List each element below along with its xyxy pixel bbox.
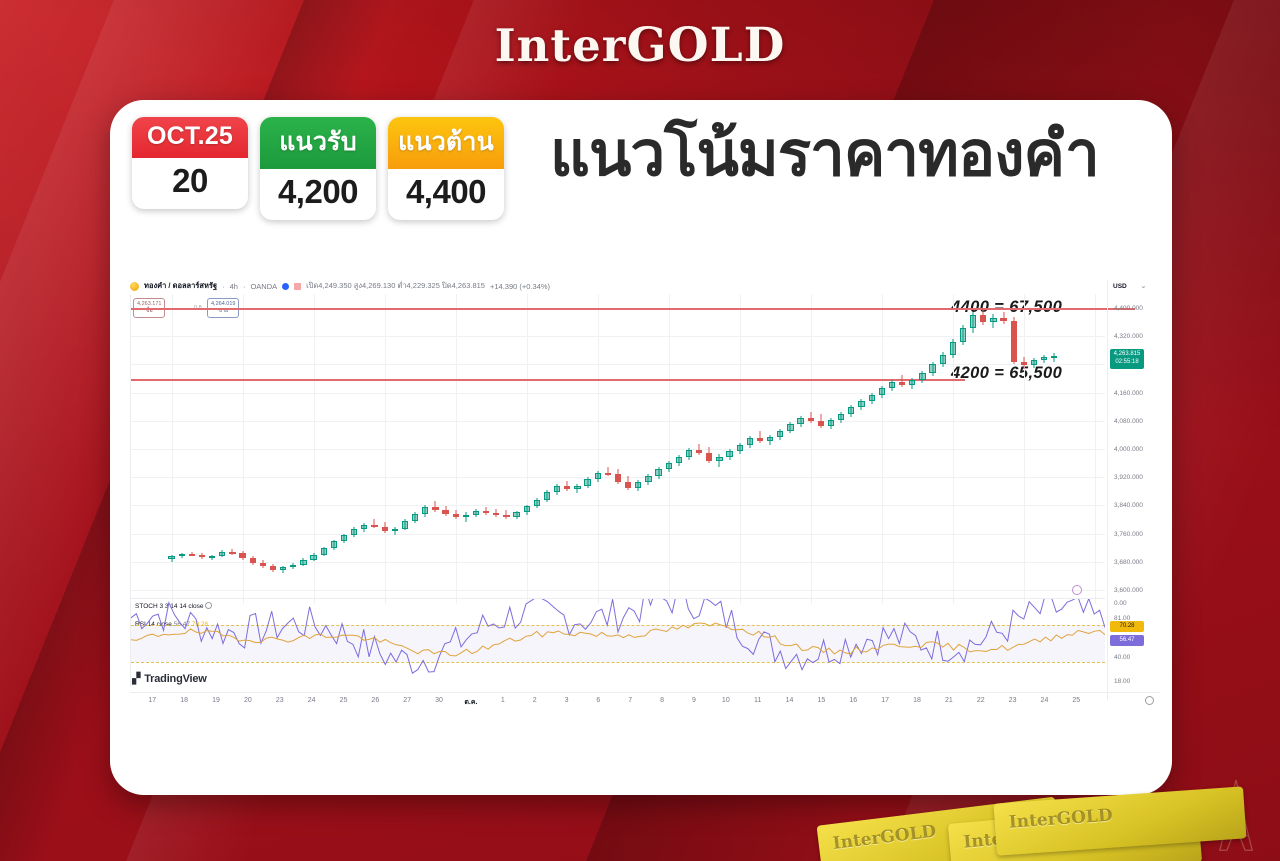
candle-body bbox=[219, 552, 225, 556]
candle-body bbox=[300, 560, 306, 565]
candle-body bbox=[584, 479, 590, 485]
candlestick bbox=[483, 294, 489, 604]
candlestick bbox=[797, 294, 803, 604]
candlestick bbox=[179, 294, 185, 604]
time-tick: ต.ค. bbox=[464, 697, 477, 708]
date-badge-head: OCT.25 bbox=[132, 117, 248, 158]
brand-logo: InterGOLD bbox=[0, 18, 1280, 73]
candle-body bbox=[797, 418, 803, 424]
candle-body bbox=[179, 554, 185, 556]
candle-body bbox=[899, 382, 905, 385]
color-swatch-icon[interactable] bbox=[294, 283, 301, 290]
time-tick: 17 bbox=[881, 697, 889, 704]
price-tick: 3,840.000 bbox=[1114, 502, 1143, 509]
candlestick bbox=[341, 294, 347, 604]
candle-body bbox=[534, 500, 540, 506]
candle-body bbox=[950, 342, 956, 355]
candlestick bbox=[280, 294, 286, 604]
candle-body bbox=[250, 558, 256, 563]
candlestick bbox=[534, 294, 540, 604]
price-tick: 4,080.000 bbox=[1114, 418, 1143, 425]
candlestick bbox=[361, 294, 367, 604]
candle-wick bbox=[465, 512, 466, 522]
price-tick: 4,400.000 bbox=[1114, 305, 1143, 312]
candle-body bbox=[1031, 360, 1037, 365]
candle-body bbox=[503, 515, 509, 517]
gold-bar-emboss: InterGOLD bbox=[1008, 806, 1113, 833]
candlestick bbox=[635, 294, 641, 604]
candle-body bbox=[513, 512, 519, 516]
support-badge-value: 4,200 bbox=[260, 169, 376, 220]
indicator-tick: 18.00 bbox=[1114, 678, 1130, 685]
alert-clock-icon[interactable] bbox=[1072, 585, 1082, 595]
time-tick: 6 bbox=[596, 697, 600, 704]
candle-body bbox=[919, 373, 925, 380]
candle-body bbox=[970, 315, 976, 328]
date-badge-value: 20 bbox=[132, 158, 248, 209]
candlestick bbox=[219, 294, 225, 604]
candle-body bbox=[666, 463, 672, 469]
candlestick bbox=[300, 294, 306, 604]
time-tick: 8 bbox=[660, 697, 664, 704]
candlestick bbox=[1021, 294, 1027, 604]
candle-body bbox=[747, 438, 753, 444]
page-title: แนวโน้มราคาทองคำ bbox=[550, 122, 1150, 189]
candle-body bbox=[209, 556, 215, 558]
tradingview-chart[interactable]: ทองคำ / ดอลลาร์สหรัฐ · 4h · OANDA เปิด4,… bbox=[122, 280, 1160, 720]
candle-body bbox=[351, 529, 357, 535]
candlestick bbox=[990, 294, 996, 604]
candle-body bbox=[889, 382, 895, 388]
candle-wick bbox=[760, 431, 761, 443]
candlestick bbox=[838, 294, 844, 604]
candlestick bbox=[564, 294, 570, 604]
candlestick bbox=[442, 294, 448, 604]
candle-wick bbox=[607, 467, 608, 477]
candlestick bbox=[929, 294, 935, 604]
candle-body bbox=[168, 556, 174, 558]
candlestick bbox=[463, 294, 469, 604]
tradingview-watermark[interactable]: ▞ TradingView bbox=[132, 672, 207, 685]
candlestick bbox=[412, 294, 418, 604]
candle-body bbox=[341, 535, 347, 541]
candlestick bbox=[402, 294, 408, 604]
chart-exchange: OANDA bbox=[250, 282, 277, 291]
time-tick: 18 bbox=[913, 697, 921, 704]
price-tick: 4,160.000 bbox=[1114, 390, 1143, 397]
price-tick: 4,000.000 bbox=[1114, 446, 1143, 453]
candlestick bbox=[747, 294, 753, 604]
candle-body bbox=[574, 486, 580, 490]
candle-body bbox=[432, 507, 438, 510]
time-tick: 19 bbox=[212, 697, 220, 704]
candle-body bbox=[655, 469, 661, 475]
time-tick: 23 bbox=[276, 697, 284, 704]
candlestick bbox=[655, 294, 661, 604]
candle-body bbox=[493, 513, 499, 515]
tradingview-mark-icon: ▞ bbox=[132, 672, 140, 685]
candle-body bbox=[706, 453, 712, 461]
gridline bbox=[1095, 294, 1096, 604]
candlestick bbox=[493, 294, 499, 604]
candle-body bbox=[818, 421, 824, 426]
chart-change: +14.390 (+0.34%) bbox=[490, 282, 550, 291]
legend-sep: · bbox=[243, 282, 246, 291]
tradingview-label: TradingView bbox=[144, 673, 206, 685]
price-tick: 3,760.000 bbox=[1114, 531, 1143, 538]
price-tick: 3,920.000 bbox=[1114, 474, 1143, 481]
plot-area[interactable]: 4,263.171 ซื้อ 0.8 4,264.019 ขาย 4400 = … bbox=[130, 294, 1105, 604]
time-tick: 20 bbox=[244, 697, 252, 704]
candle-body bbox=[787, 424, 793, 430]
last-price-value: 4,263.815 bbox=[1113, 351, 1141, 359]
candlestick bbox=[1041, 294, 1047, 604]
candlestick bbox=[787, 294, 793, 604]
candlestick bbox=[260, 294, 266, 604]
candle-body bbox=[544, 492, 550, 500]
candle-body bbox=[716, 457, 722, 461]
candlestick bbox=[767, 294, 773, 604]
candlestick bbox=[1000, 294, 1006, 604]
candlestick bbox=[290, 294, 296, 604]
time-tick: 26 bbox=[371, 697, 379, 704]
time-tick: 27 bbox=[403, 697, 411, 704]
resistance-badge-value: 4,400 bbox=[388, 169, 504, 220]
price-tick: 3,680.000 bbox=[1114, 559, 1143, 566]
candle-body bbox=[990, 318, 996, 322]
candle-body bbox=[757, 438, 763, 441]
last-price-time: 02:55:18 bbox=[1113, 359, 1141, 367]
gold-bar: InterGOLD bbox=[993, 786, 1246, 855]
candle-body bbox=[382, 527, 388, 531]
candlestick bbox=[1051, 294, 1057, 604]
indicator-tick: 81.00 bbox=[1114, 615, 1130, 622]
candlestick bbox=[392, 294, 398, 604]
last-price-badge: 4,263.81502:55:18 bbox=[1110, 349, 1144, 369]
candle-body bbox=[189, 554, 195, 556]
candlestick bbox=[310, 294, 316, 604]
candlestick bbox=[554, 294, 560, 604]
candle-body bbox=[280, 567, 286, 570]
candle-body bbox=[858, 401, 864, 407]
candle-wick bbox=[902, 375, 903, 387]
price-tick: 4,320.000 bbox=[1114, 333, 1143, 340]
candle-body bbox=[331, 541, 337, 548]
time-tick: 2 bbox=[533, 697, 537, 704]
time-tick: 11 bbox=[754, 697, 761, 704]
candlestick bbox=[808, 294, 814, 604]
candlestick bbox=[422, 294, 428, 604]
time-axis[interactable]: 17181920232425262730ต.ค.1236789101114151… bbox=[130, 692, 1160, 714]
time-tick: 3 bbox=[565, 697, 569, 704]
time-tick: 21 bbox=[945, 697, 953, 704]
candlestick bbox=[950, 294, 956, 604]
candlestick bbox=[250, 294, 256, 604]
gold-bars-decoration: InterGOLD InterGOLD InterGOLD bbox=[810, 771, 1280, 861]
candlestick bbox=[1031, 294, 1037, 604]
candle-body bbox=[869, 395, 875, 401]
candlestick bbox=[199, 294, 205, 604]
price-scale[interactable]: USD⌄ 4,400.0004,320.0004,240.0004,160.00… bbox=[1107, 280, 1160, 700]
candlestick bbox=[473, 294, 479, 604]
candle-body bbox=[625, 482, 631, 488]
candle-body bbox=[676, 457, 682, 463]
candlestick bbox=[980, 294, 986, 604]
candle-body bbox=[726, 451, 732, 457]
candlestick bbox=[595, 294, 601, 604]
price-tick: 3,600.000 bbox=[1114, 587, 1143, 594]
candlestick bbox=[666, 294, 672, 604]
candle-body bbox=[615, 474, 621, 482]
candle-body bbox=[737, 445, 743, 451]
time-tick: 24 bbox=[308, 697, 316, 704]
candlestick bbox=[524, 294, 530, 604]
candlestick bbox=[615, 294, 621, 604]
candlestick bbox=[889, 294, 895, 604]
candle-body bbox=[239, 553, 245, 558]
candlestick bbox=[645, 294, 651, 604]
gold-symbol-icon bbox=[130, 282, 139, 291]
candle-body bbox=[696, 450, 702, 453]
candlestick bbox=[940, 294, 946, 604]
badge-row: OCT.25 20 แนวรับ 4,200 แนวต้าน 4,400 bbox=[132, 117, 504, 220]
candlestick bbox=[818, 294, 824, 604]
candle-body bbox=[940, 355, 946, 364]
candlestick bbox=[696, 294, 702, 604]
candle-body bbox=[473, 511, 479, 515]
candle-body bbox=[260, 563, 266, 566]
candlestick bbox=[503, 294, 509, 604]
candle-body bbox=[1041, 357, 1047, 360]
time-tick: 23 bbox=[1009, 697, 1017, 704]
candlestick bbox=[239, 294, 245, 604]
time-tick: 14 bbox=[786, 697, 794, 704]
time-tick: 22 bbox=[977, 697, 985, 704]
candle-body bbox=[909, 380, 915, 385]
resistance-badge-head: แนวต้าน bbox=[388, 117, 504, 169]
eye-icon[interactable] bbox=[282, 283, 289, 290]
time-tick: 15 bbox=[818, 697, 826, 704]
candlestick bbox=[432, 294, 438, 604]
candle-body bbox=[645, 476, 651, 482]
candlestick bbox=[229, 294, 235, 604]
candle-body bbox=[605, 473, 611, 475]
gold-bar-emboss: InterGOLD bbox=[832, 821, 938, 854]
candle-body bbox=[453, 514, 459, 518]
chart-symbol[interactable]: ทองคำ / ดอลลาร์สหรัฐ bbox=[144, 280, 217, 292]
candle-body bbox=[524, 506, 530, 512]
candle-body bbox=[412, 514, 418, 521]
candle-body bbox=[402, 521, 408, 529]
candle-body bbox=[1021, 362, 1027, 366]
candlestick bbox=[909, 294, 915, 604]
candle-body bbox=[229, 552, 235, 554]
indicator-pane[interactable]: STOCH 3 3 14 14 close RSI 14 close 56.47… bbox=[130, 598, 1105, 686]
candle-body bbox=[392, 529, 398, 531]
time-tick: 30 bbox=[435, 697, 443, 704]
content-card: OCT.25 20 แนวรับ 4,200 แนวต้าน 4,400 แนว… bbox=[110, 100, 1172, 795]
candlestick bbox=[209, 294, 215, 604]
candlestick bbox=[737, 294, 743, 604]
legend-sep: · bbox=[222, 282, 225, 291]
price-scale-currency: USD⌄ bbox=[1113, 282, 1146, 290]
resistance-badge: แนวต้าน 4,400 bbox=[388, 117, 504, 220]
candle-body bbox=[960, 328, 966, 342]
rsi-ma-line bbox=[131, 599, 1105, 686]
candle-body bbox=[838, 414, 844, 420]
candle-body bbox=[1051, 356, 1057, 358]
candle-body bbox=[371, 525, 377, 527]
candlestick bbox=[321, 294, 327, 604]
candlestick bbox=[726, 294, 732, 604]
candle-body bbox=[422, 507, 428, 513]
candlestick bbox=[970, 294, 976, 604]
candle-body bbox=[635, 482, 641, 488]
chart-ohlc: เปิด4,249.350 สูง4,269.130 ต่ำ4,229.325 … bbox=[306, 280, 485, 292]
candlestick bbox=[858, 294, 864, 604]
candlestick bbox=[544, 294, 550, 604]
candlestick bbox=[899, 294, 905, 604]
candle-body bbox=[564, 486, 570, 489]
candlestick bbox=[351, 294, 357, 604]
candlestick bbox=[453, 294, 459, 604]
candle-body bbox=[483, 511, 489, 513]
candlestick bbox=[584, 294, 590, 604]
candle-body bbox=[980, 315, 986, 322]
logo-gold: GOLD bbox=[627, 18, 786, 73]
candle-body bbox=[1000, 318, 1006, 322]
candle-body bbox=[554, 486, 560, 492]
time-tick: 16 bbox=[849, 697, 857, 704]
candlestick bbox=[960, 294, 966, 604]
candlestick bbox=[513, 294, 519, 604]
candlestick bbox=[574, 294, 580, 604]
candlestick bbox=[331, 294, 337, 604]
candlestick bbox=[382, 294, 388, 604]
candlestick bbox=[189, 294, 195, 604]
candlestick bbox=[706, 294, 712, 604]
time-tick: 10 bbox=[722, 697, 730, 704]
indicator-tick: 40.00 bbox=[1114, 654, 1130, 661]
chart-legend: ทองคำ / ดอลลาร์สหรัฐ · 4h · OANDA เปิด4,… bbox=[130, 280, 550, 292]
candle-body bbox=[290, 565, 296, 568]
time-tick: 25 bbox=[340, 697, 348, 704]
time-tick: 18 bbox=[180, 697, 188, 704]
candlestick bbox=[371, 294, 377, 604]
candlestick bbox=[757, 294, 763, 604]
candlestick bbox=[919, 294, 925, 604]
candle-body bbox=[199, 555, 205, 557]
support-badge-head: แนวรับ bbox=[260, 117, 376, 169]
candle-body bbox=[1011, 321, 1017, 361]
candle-body bbox=[442, 510, 448, 514]
candle-body bbox=[310, 555, 316, 560]
time-tick: 1 bbox=[501, 697, 505, 704]
candle-body bbox=[361, 525, 367, 529]
candlestick bbox=[828, 294, 834, 604]
candle-body bbox=[848, 407, 854, 413]
candlestick bbox=[168, 294, 174, 604]
candlestick bbox=[676, 294, 682, 604]
candlestick bbox=[625, 294, 631, 604]
candlestick bbox=[605, 294, 611, 604]
candle-body bbox=[686, 450, 692, 456]
date-badge: OCT.25 20 bbox=[132, 117, 248, 209]
candle-body bbox=[767, 437, 773, 441]
candle-body bbox=[777, 431, 783, 437]
time-tick: 7 bbox=[628, 697, 632, 704]
candlestick bbox=[1011, 294, 1017, 604]
logo-inter: Inter bbox=[495, 19, 627, 72]
rsi-value-badge: 56.47 bbox=[1110, 635, 1144, 647]
candle-body bbox=[595, 473, 601, 479]
time-tick: 9 bbox=[692, 697, 696, 704]
candlestick bbox=[716, 294, 722, 604]
candlestick bbox=[686, 294, 692, 604]
chart-settings-icon[interactable] bbox=[1145, 696, 1154, 705]
chart-interval[interactable]: 4h bbox=[230, 282, 238, 291]
candlestick bbox=[270, 294, 276, 604]
time-tick: 17 bbox=[148, 697, 156, 704]
candle-body bbox=[463, 515, 469, 517]
chevron-down-icon[interactable]: ⌄ bbox=[1141, 283, 1146, 290]
candlestick bbox=[848, 294, 854, 604]
candle-body bbox=[879, 388, 885, 394]
time-tick: 25 bbox=[1072, 697, 1080, 704]
support-badge: แนวรับ 4,200 bbox=[260, 117, 376, 220]
candle-body bbox=[270, 566, 276, 570]
candle-body bbox=[929, 364, 935, 373]
indicator-tick: 0.00 bbox=[1114, 600, 1127, 607]
candlestick bbox=[869, 294, 875, 604]
candle-body bbox=[828, 420, 834, 426]
candlestick bbox=[777, 294, 783, 604]
time-tick: 24 bbox=[1041, 697, 1049, 704]
candlestick bbox=[879, 294, 885, 604]
candle-body bbox=[321, 548, 327, 554]
bid-price-value: 4,263.171 bbox=[137, 301, 161, 308]
candle-body bbox=[808, 418, 814, 421]
